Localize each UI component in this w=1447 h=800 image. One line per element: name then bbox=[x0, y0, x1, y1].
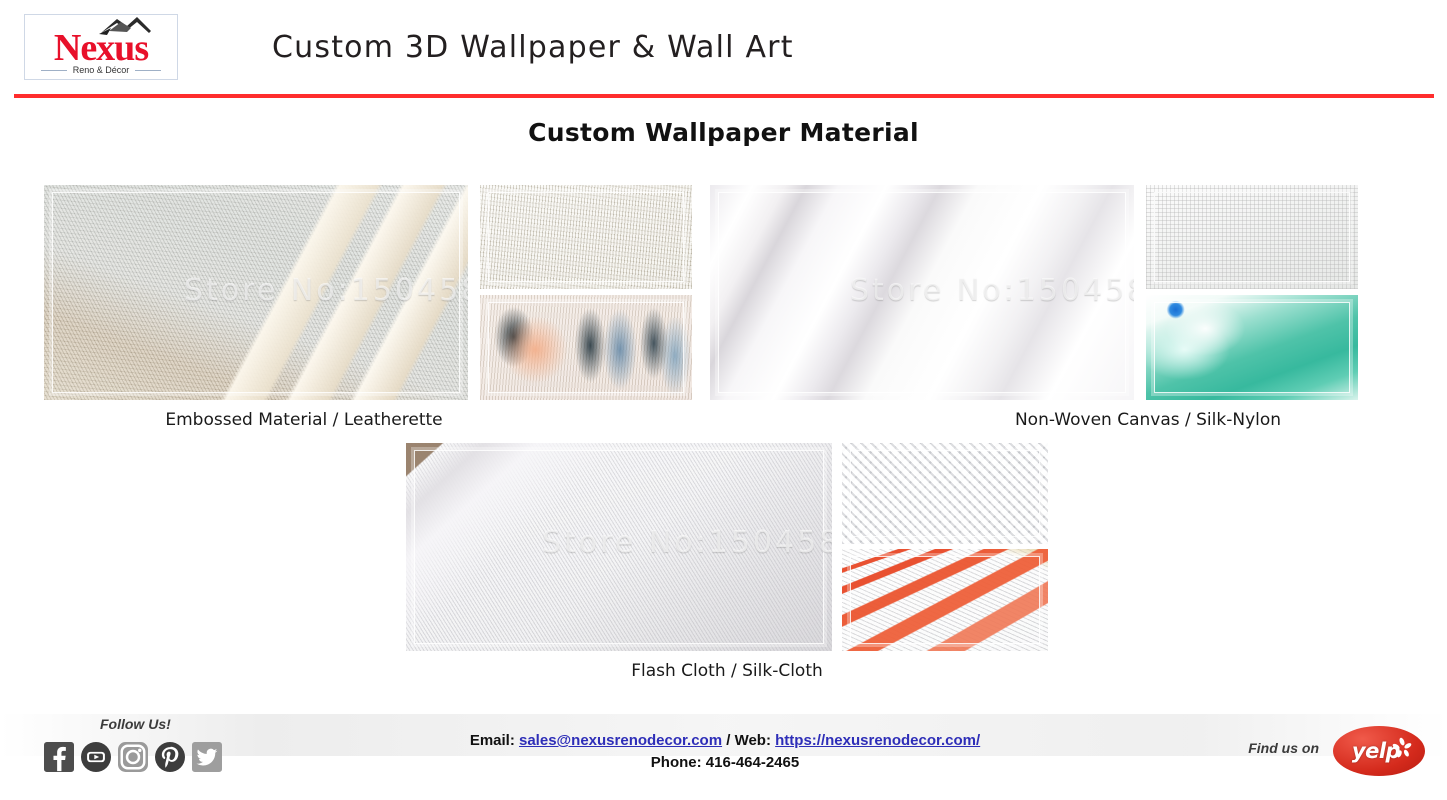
instagram-icon[interactable] bbox=[118, 742, 148, 772]
twitter-icon[interactable] bbox=[192, 742, 222, 772]
youtube-icon[interactable] bbox=[81, 742, 111, 772]
teal-floral-print-photo bbox=[1146, 295, 1358, 400]
material-panel-embossed[interactable]: Store No:1504588 Embossed Material / Lea… bbox=[44, 185, 692, 435]
red-stripe-print-photo bbox=[842, 549, 1048, 651]
mountain-roof-icon bbox=[97, 14, 153, 36]
panel-caption: Embossed Material / Leatherette bbox=[4, 410, 604, 430]
header-title: Custom 3D Wallpaper & Wall Art bbox=[272, 30, 794, 65]
contact-line-2: Phone: 416-464-2465 bbox=[330, 752, 1120, 774]
non-woven-mesh-closeup-photo bbox=[1146, 185, 1358, 289]
header-divider bbox=[14, 94, 1434, 98]
web-label: Web: bbox=[735, 732, 771, 749]
pinterest-icon[interactable] bbox=[155, 742, 185, 772]
facebook-icon[interactable] bbox=[44, 742, 74, 772]
brand-logo[interactable]: Nexus Reno & Décor bbox=[24, 14, 178, 80]
quilted-weave-closeup-photo bbox=[842, 443, 1048, 544]
logo-rule-left bbox=[41, 70, 67, 71]
phone-label: Phone: bbox=[651, 754, 702, 771]
yelp-burst-icon bbox=[1391, 737, 1413, 759]
social-links[interactable] bbox=[44, 742, 222, 772]
flash-cloth-sheet-photo: Store No:1504588 bbox=[406, 443, 832, 651]
page-footer: Follow Us! Email: sales@ bbox=[0, 700, 1447, 800]
white-silk-drape-photo: Store No:1504588 bbox=[710, 185, 1134, 400]
material-panel-flash-cloth[interactable]: Store No:1504588 Flash Cloth / Silk-Clot… bbox=[406, 443, 1048, 693]
logo-tagline: Reno & Décor bbox=[73, 65, 130, 75]
panel-caption: Flash Cloth / Silk-Cloth bbox=[406, 661, 1048, 681]
embossed-printed-pattern-photo bbox=[480, 295, 692, 400]
embossed-texture-closeup-photo bbox=[480, 185, 692, 289]
website-link[interactable]: https://nexusrenodecor.com/ bbox=[775, 732, 980, 749]
logo-tagline-row: Reno & Décor bbox=[25, 65, 177, 75]
material-panel-non-woven[interactable]: Store No:1504588 Non-Woven Canvas / Silk… bbox=[710, 185, 1358, 435]
page-title: Custom Wallpaper Material bbox=[0, 118, 1447, 147]
follow-us-label: Follow Us! bbox=[100, 716, 171, 732]
contact-separator: / bbox=[726, 732, 730, 749]
find-us-on-label: Find us on bbox=[1248, 740, 1319, 756]
contact-line-1: Email: sales@nexusrenodecor.com / Web: h… bbox=[330, 730, 1120, 752]
email-label: Email: bbox=[470, 732, 515, 749]
embossed-wallpaper-roll-photo: Store No:1504588 bbox=[44, 185, 468, 400]
panel-caption: Non-Woven Canvas / Silk-Nylon bbox=[848, 410, 1447, 430]
contact-info: Email: sales@nexusrenodecor.com / Web: h… bbox=[330, 730, 1120, 774]
page-header: Nexus Reno & Décor Custom 3D Wallpaper &… bbox=[0, 0, 1447, 96]
email-link[interactable]: sales@nexusrenodecor.com bbox=[519, 732, 722, 749]
phone-number: 416-464-2465 bbox=[706, 754, 799, 771]
logo-rule-right bbox=[135, 70, 161, 71]
yelp-badge[interactable]: yelp bbox=[1333, 726, 1425, 776]
